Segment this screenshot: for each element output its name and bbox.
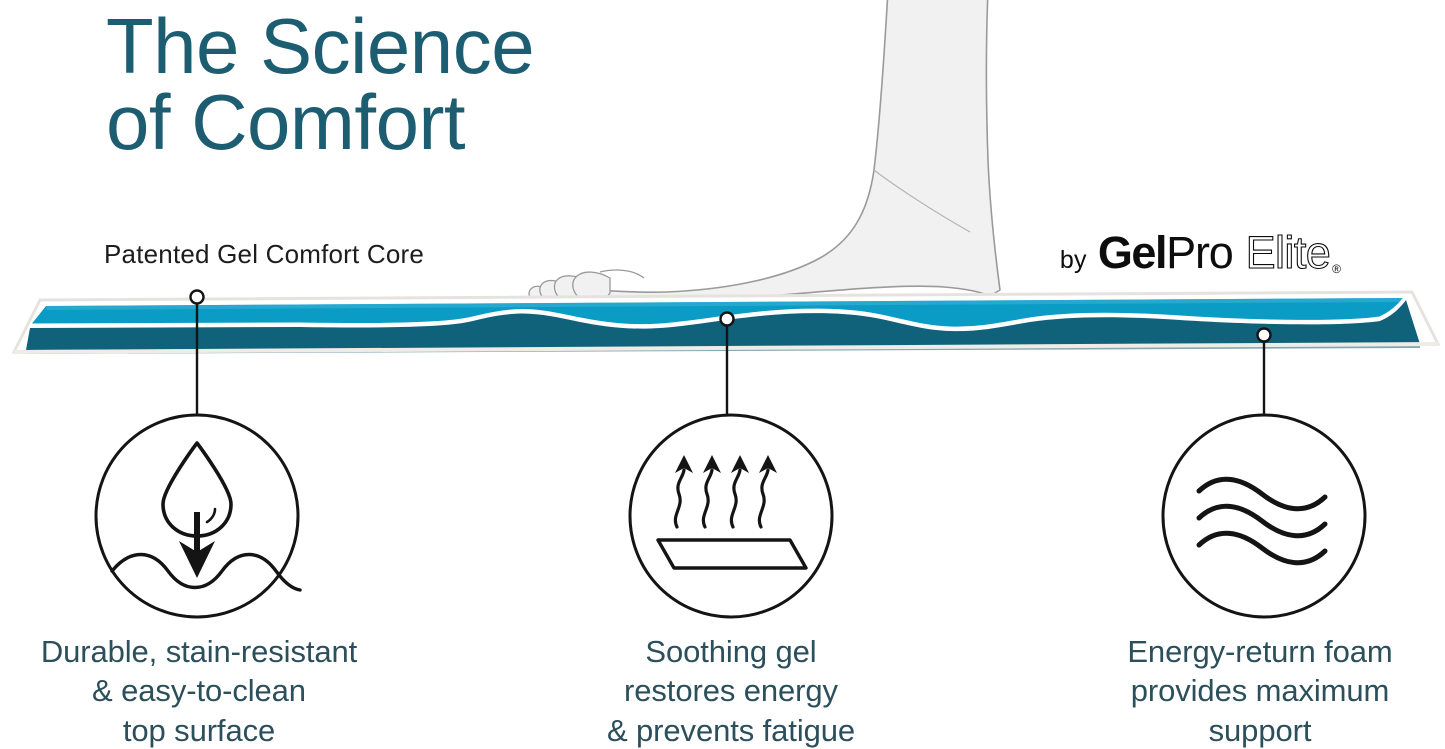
feature-caption-1: Durable, stain-resistant & easy-to-clean… (0, 632, 398, 749)
feature-caption-3: Energy-return foam provides maximum supp… (1075, 632, 1445, 749)
foot-illustration (529, 0, 1000, 302)
feature-icon-3-circle[interactable] (1163, 415, 1365, 617)
infographic-canvas: The Science of Comfort Patented Gel Comf… (0, 0, 1445, 749)
feature-caption-2: Soothing gel restores energy & prevents … (545, 632, 917, 749)
